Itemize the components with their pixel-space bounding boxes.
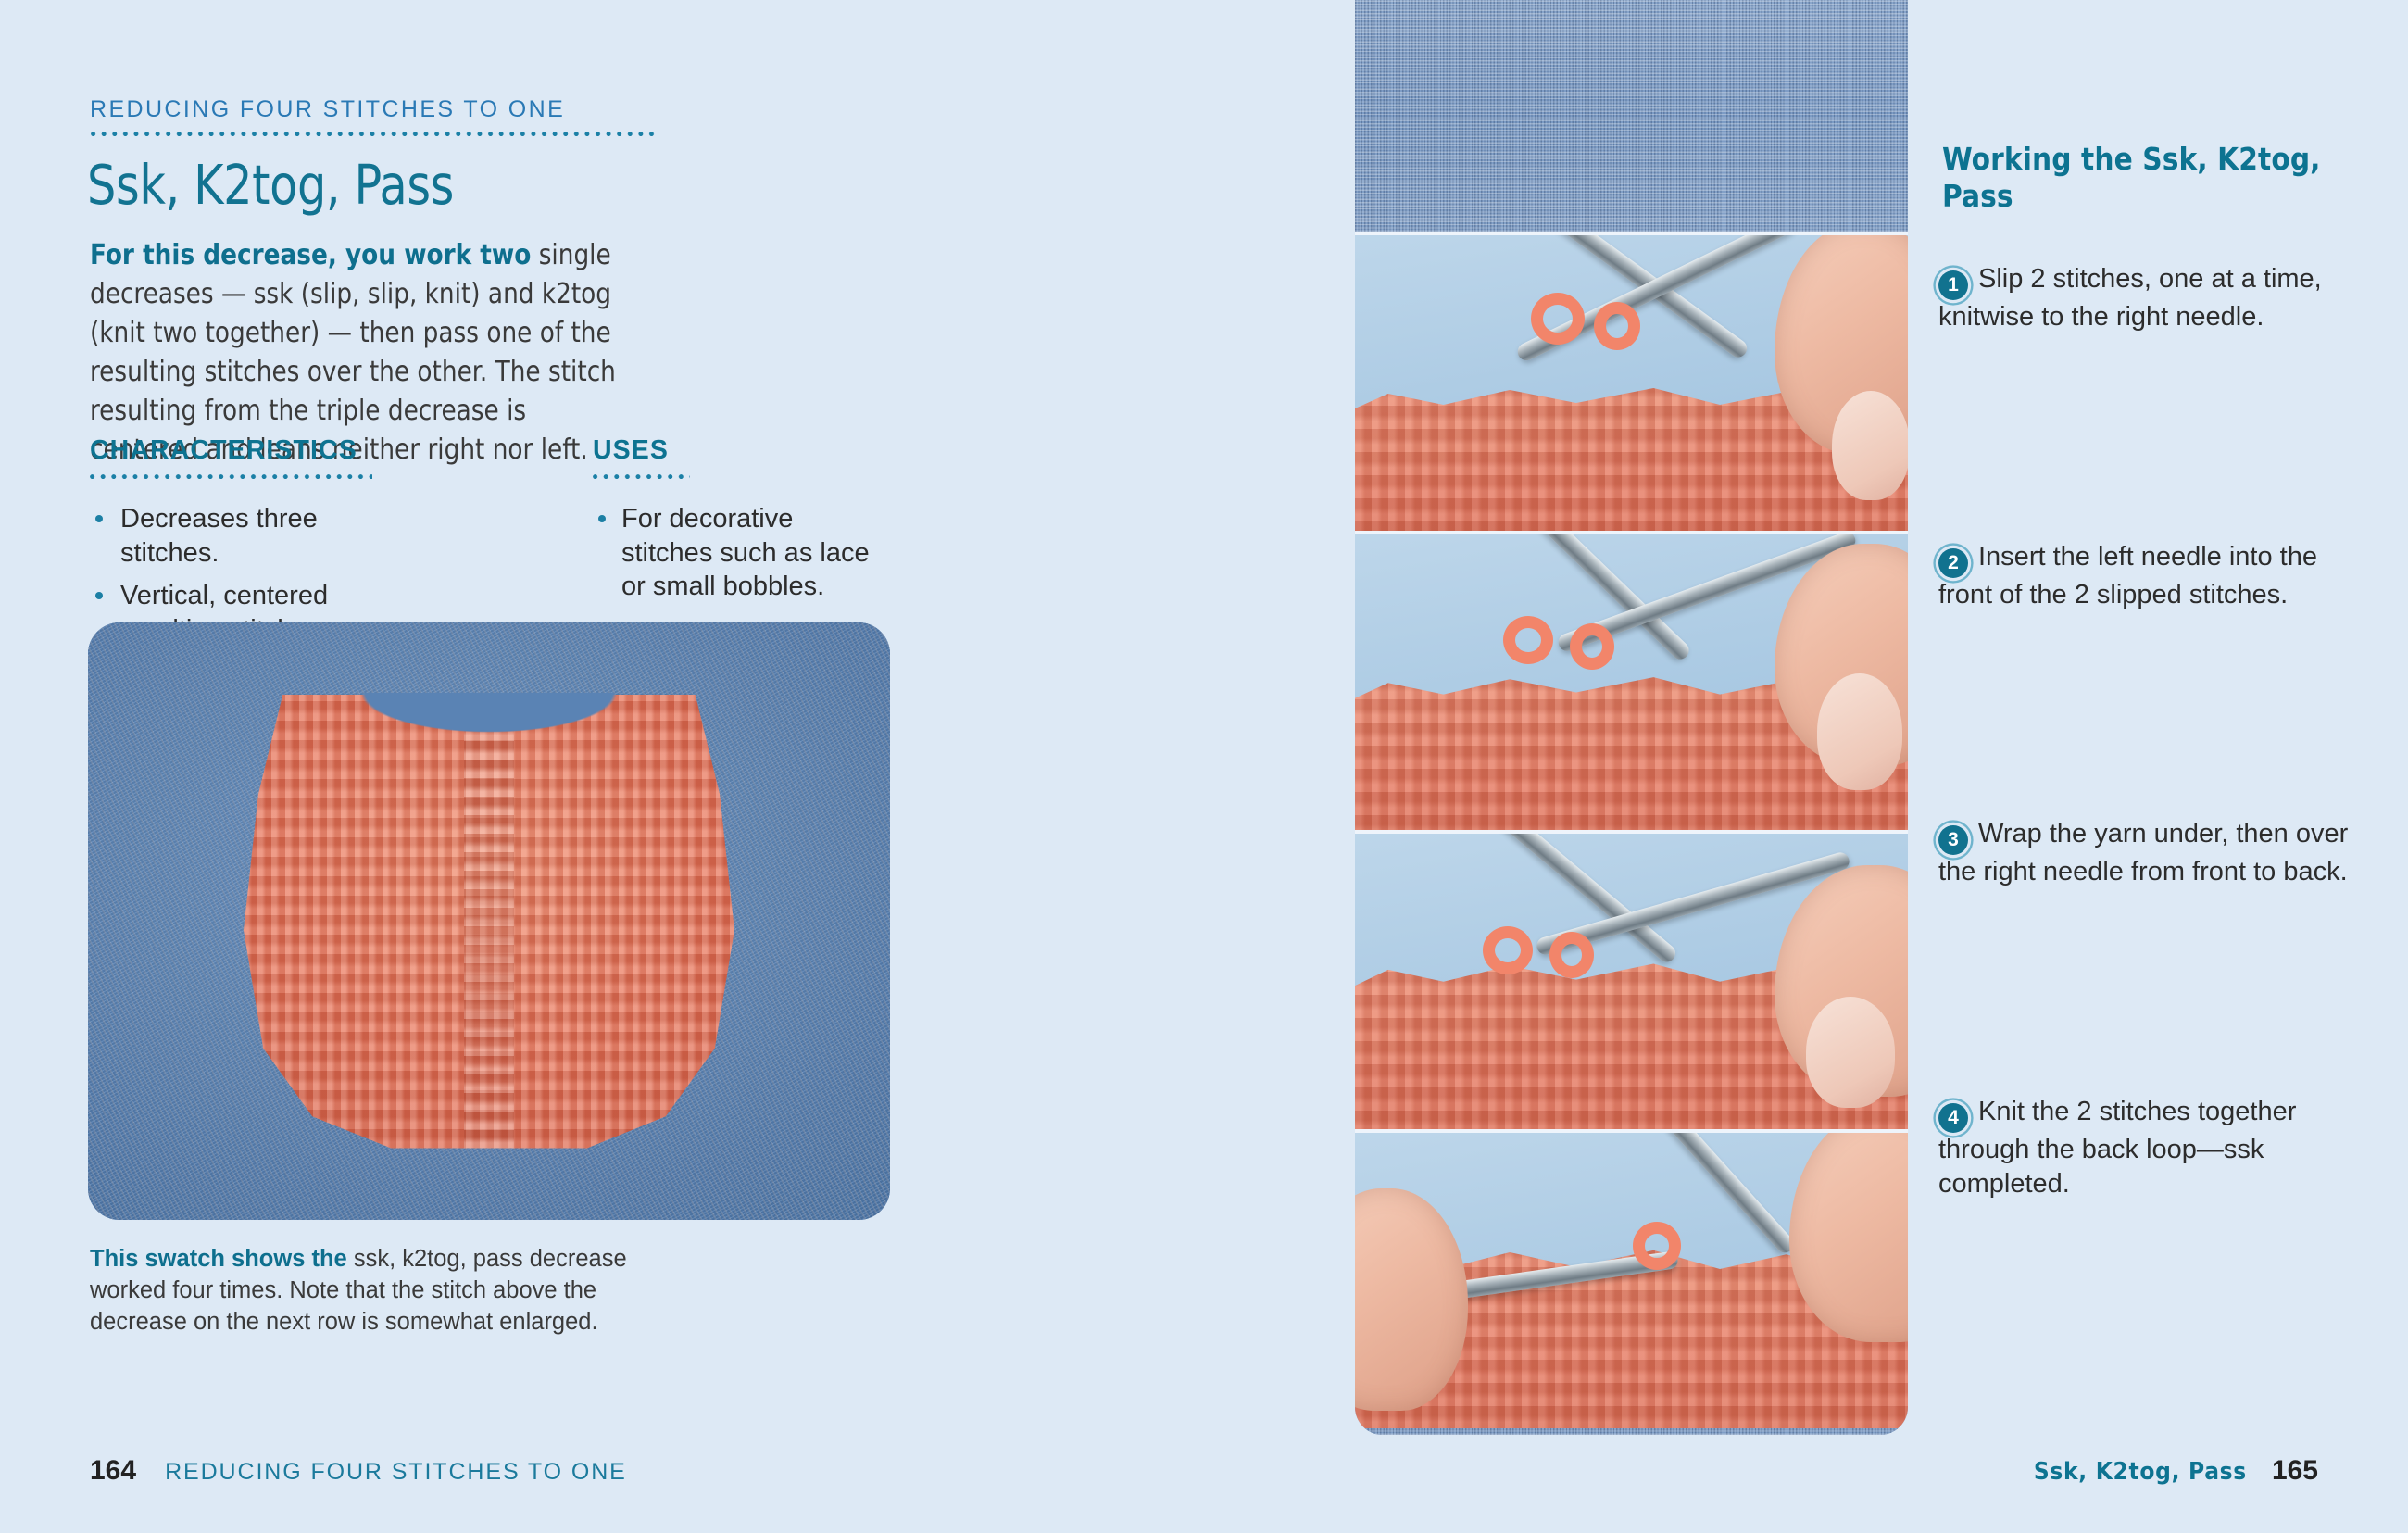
yarn-loop xyxy=(1570,623,1614,670)
yarn-loop xyxy=(1531,293,1585,345)
yarn-loop xyxy=(1594,302,1640,350)
denim-texture xyxy=(1355,0,1908,232)
step-badge-3: 3 xyxy=(1938,825,1968,855)
step-4: 4Knit the 2 stitches together through th… xyxy=(1938,1095,2353,1202)
footer-right: Ssk, K2tog, Pass 165 xyxy=(2034,1455,2318,1487)
yarn-loop xyxy=(1549,932,1594,978)
fingernail xyxy=(1832,391,1908,500)
eyebrow-running-head: REDUCING FOUR STITCHES TO ONE xyxy=(90,96,565,123)
uses-column: USES For decorative stitches such as lac… xyxy=(593,435,871,613)
yarn-loop xyxy=(1633,1222,1681,1270)
step-photo-3 xyxy=(1355,830,1908,1129)
fingernail xyxy=(1817,673,1902,790)
step-photo-1 xyxy=(1355,232,1908,531)
step-3: 3Wrap the yarn under, then over the righ… xyxy=(1938,817,2353,889)
swatch-photo xyxy=(88,622,890,1220)
footer-running-head: REDUCING FOUR STITCHES TO ONE xyxy=(165,1459,627,1486)
uses-heading: USES xyxy=(593,435,871,466)
swatch-top-curve xyxy=(244,693,734,735)
step-badge-4: 4 xyxy=(1938,1103,1968,1133)
step-text-4: Knit the 2 stitches together through the… xyxy=(1938,1097,2296,1199)
list-item: For decorative stitches such as lace or … xyxy=(593,502,871,604)
page-number: 165 xyxy=(2272,1455,2318,1487)
knitted-swatch xyxy=(244,695,734,1149)
yarn-loop xyxy=(1483,926,1533,974)
step-photo-strip xyxy=(1355,0,1908,1435)
yarn-loop xyxy=(1503,616,1553,664)
denim-band-top xyxy=(1355,0,1908,232)
step-text-2: Insert the left needle into the front of… xyxy=(1938,542,2317,609)
book-spread: REDUCING FOUR STITCHES TO ONE Ssk, K2tog… xyxy=(0,0,2408,1533)
characteristics-heading: CHARACTERISTICS xyxy=(90,435,395,466)
step-text-1: Slip 2 stitches, one at a time, knitwise… xyxy=(1938,264,2322,332)
step-photo-2 xyxy=(1355,531,1908,830)
dotted-rule-uses xyxy=(593,474,690,480)
footer-left: 164 REDUCING FOUR STITCHES TO ONE xyxy=(90,1455,627,1487)
step-text-3: Wrap the yarn under, then over the right… xyxy=(1938,819,2348,886)
denim-band-bottom xyxy=(1355,1428,1908,1435)
step-2: 2Insert the left needle into the front o… xyxy=(1938,540,2353,612)
denim-texture xyxy=(1355,1428,1908,1435)
intro-body: single decreases — ssk (slip, slip, knit… xyxy=(90,239,616,466)
knitted-fabric xyxy=(244,695,734,1149)
step-photo-4 xyxy=(1355,1129,1908,1428)
footer-running-head: Ssk, K2tog, Pass xyxy=(2034,1458,2247,1486)
steps-heading: Working the Ssk, K2tog, Pass xyxy=(1942,141,2340,214)
page-number: 164 xyxy=(90,1455,136,1487)
uses-list: For decorative stitches such as lace or … xyxy=(593,502,871,604)
list-item: Decreases three stitches. xyxy=(90,502,395,570)
intro-lead-in: For this decrease, you work two xyxy=(90,239,531,271)
left-page: REDUCING FOUR STITCHES TO ONE Ssk, K2tog… xyxy=(0,0,1352,1533)
dotted-rule-characteristics xyxy=(90,474,372,480)
step-badge-2: 2 xyxy=(1938,548,1968,578)
right-page: Working the Ssk, K2tog, Pass 1Slip 2 sti… xyxy=(1352,0,2408,1533)
step-badge-1: 1 xyxy=(1938,270,1968,300)
dotted-rule-eyebrow xyxy=(91,132,656,137)
step-1: 1Slip 2 stitches, one at a time, knitwis… xyxy=(1938,262,2353,334)
swatch-caption: This swatch shows the ssk, k2tog, pass d… xyxy=(90,1243,683,1338)
page-title: Ssk, K2tog, Pass xyxy=(87,153,454,217)
fingernail xyxy=(1806,997,1895,1108)
caption-lead-in: This swatch shows the xyxy=(90,1246,347,1272)
